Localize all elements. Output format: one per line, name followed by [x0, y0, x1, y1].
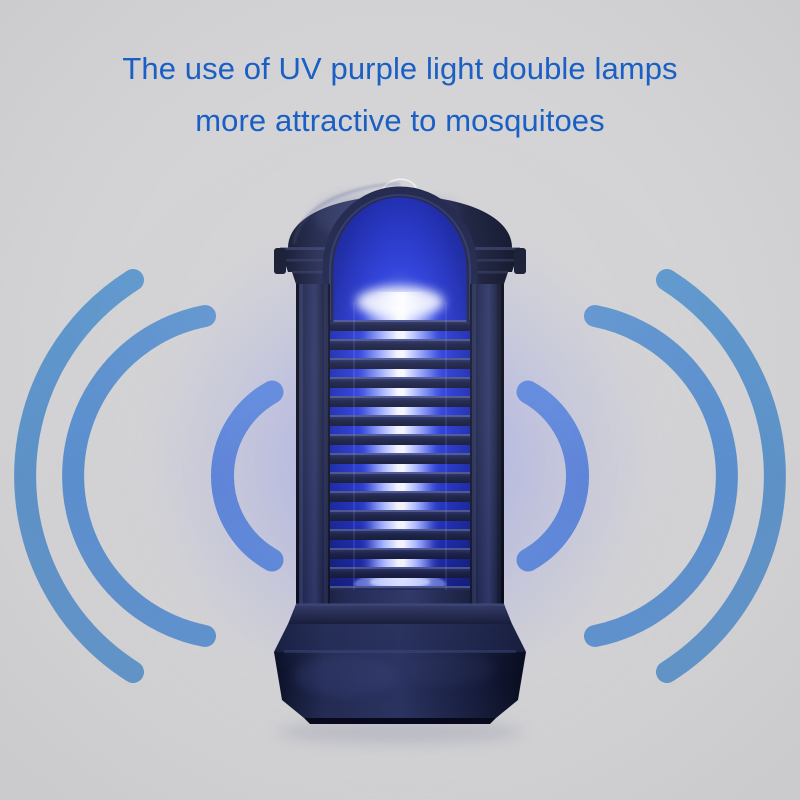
headline-line-2: more attractive to mosquitoes	[0, 95, 800, 147]
page-title: The use of UV purple light double lamps …	[0, 43, 800, 147]
headline-line-1: The use of UV purple light double lamps	[122, 51, 677, 86]
product-banner: The use of UV purple light double lamps …	[0, 0, 800, 800]
